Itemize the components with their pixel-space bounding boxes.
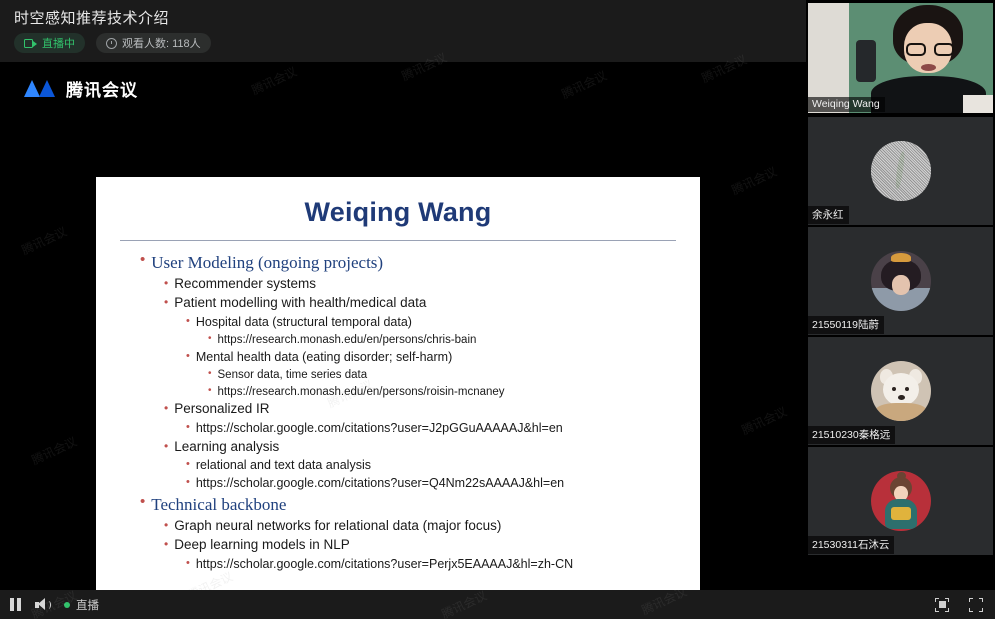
- viewer-count-label: 观看人数: 118人: [122, 35, 201, 51]
- slide-bullet: •Patient modelling with health/medical d…: [164, 295, 686, 312]
- pause-button[interactable]: [10, 598, 21, 611]
- slide-title: Weiqing Wang: [96, 197, 700, 228]
- watermark: 腾讯会议: [19, 223, 70, 259]
- bullet-dot-icon: •: [164, 295, 168, 310]
- bullet-dot-icon: •: [186, 557, 190, 571]
- status-badge-live: 直播中: [14, 33, 85, 53]
- bullet-text: Patient modelling with health/medical da…: [174, 295, 426, 312]
- bullet-dot-icon: •: [164, 401, 168, 416]
- slide-bullet: •Recommender systems: [164, 276, 686, 293]
- brand-bar: 腾讯会议 腾讯会议 腾讯会议 腾讯会议 腾讯会议: [0, 62, 805, 112]
- bullet-dot-icon: •: [140, 252, 145, 269]
- slide-bullet: •https://research.monash.edu/en/persons/…: [208, 333, 686, 347]
- page-title: 时空感知推荐技术介绍: [14, 7, 169, 28]
- avatar: [871, 141, 931, 201]
- slide-bullet: •Graph neural networks for relational da…: [164, 518, 686, 535]
- bullet-text: Sensor data, time series data: [218, 368, 368, 382]
- slide-bullet: •Personalized IR: [164, 401, 686, 418]
- bullet-text: Deep learning models in NLP: [174, 537, 350, 554]
- bullet-text: Technical backbone: [151, 494, 286, 515]
- participant-name: 余永红: [808, 206, 849, 224]
- live-badge-label: 直播中: [42, 35, 75, 51]
- bullet-text: Learning analysis: [174, 439, 279, 456]
- status-badges: 直播中 观看人数: 118人: [14, 33, 211, 53]
- slide-bullet-list: •User Modeling (ongoing projects)•Recomm…: [96, 241, 700, 572]
- slide-bullet: •Technical backbone: [140, 494, 686, 515]
- participant-name: 21550119陆蔚: [808, 316, 884, 334]
- bullet-text: https://research.monash.edu/en/persons/c…: [218, 333, 477, 347]
- participant-tile[interactable]: 21510230秦格远: [808, 337, 993, 445]
- bullet-dot-icon: •: [164, 276, 168, 291]
- slide-bullet: •https://scholar.google.com/citations?us…: [186, 476, 686, 492]
- camera-icon: [24, 39, 37, 48]
- live-indicator: 直播: [64, 597, 99, 613]
- avatar: [871, 361, 931, 421]
- live-dot-icon: [64, 602, 70, 608]
- slide-bullet: •Learning analysis: [164, 439, 686, 456]
- bullet-text: Hospital data (structural temporal data): [196, 315, 412, 331]
- bullet-dot-icon: •: [164, 439, 168, 454]
- slide-bullet: •Hospital data (structural temporal data…: [186, 315, 686, 331]
- avatar: [871, 471, 931, 531]
- watermark: 腾讯会议: [559, 67, 610, 103]
- bullet-text: Graph neural networks for relational dat…: [174, 518, 501, 535]
- bullet-text: https://scholar.google.com/citations?use…: [196, 421, 563, 437]
- slide-bullet: •https://research.monash.edu/en/persons/…: [208, 385, 686, 399]
- presentation-slide[interactable]: Weiqing Wang •User Modeling (ongoing pro…: [96, 177, 700, 619]
- shared-screen-area[interactable]: 腾讯会议 腾讯会议 腾讯会议 腾讯会议 腾讯会议 腾讯会议 腾讯会议 Weiqi…: [0, 112, 805, 619]
- participant-name: 21530311石沐云: [808, 536, 894, 554]
- watermark: 腾讯会议: [29, 433, 80, 469]
- bullet-dot-icon: •: [208, 385, 212, 398]
- bullet-text: https://research.monash.edu/en/persons/r…: [218, 385, 505, 399]
- bullet-dot-icon: •: [186, 458, 190, 472]
- bullet-dot-icon: •: [164, 537, 168, 552]
- player-controls-bar: 直播: [0, 590, 995, 619]
- participant-strip[interactable]: Weiqing Wang 余永红 21550119陆蔚 21510230秦格远: [806, 0, 995, 557]
- participant-tile[interactable]: 21550119陆蔚: [808, 227, 993, 335]
- watermark: 腾讯会议: [249, 63, 300, 99]
- participant-tile-video[interactable]: Weiqing Wang: [808, 3, 993, 113]
- slide-bullet: •https://scholar.google.com/citations?us…: [186, 557, 686, 573]
- slide-bullet: •Sensor data, time series data: [208, 368, 686, 382]
- avatar: [871, 251, 931, 311]
- slide-bullet: •Deep learning models in NLP: [164, 537, 686, 554]
- bullet-dot-icon: •: [186, 476, 190, 490]
- participant-tile[interactable]: 余永红: [808, 117, 993, 225]
- brand-name: 腾讯会议: [66, 76, 138, 101]
- participant-name: 21510230秦格远: [808, 426, 895, 444]
- bullet-text: User Modeling (ongoing projects): [151, 252, 383, 273]
- brand: 腾讯会议: [26, 76, 138, 101]
- bullet-dot-icon: •: [140, 494, 145, 511]
- live-stream-page: 时空感知推荐技术介绍 直播中 观看人数: 118人 腾讯会议 腾讯会议 腾讯会议…: [0, 0, 995, 619]
- bullet-text: Mental health data (eating disorder; sel…: [196, 350, 452, 366]
- participant-name: Weiqing Wang: [808, 97, 885, 112]
- bullet-dot-icon: •: [186, 350, 190, 364]
- eye-icon: [106, 38, 117, 49]
- picture-in-picture-icon[interactable]: [935, 598, 949, 612]
- bullet-dot-icon: •: [208, 333, 212, 346]
- watermark: 腾讯会议: [739, 403, 790, 439]
- slide-bullet: •Mental health data (eating disorder; se…: [186, 350, 686, 366]
- bullet-dot-icon: •: [164, 518, 168, 533]
- bullet-text: relational and text data analysis: [196, 458, 371, 474]
- bullet-dot-icon: •: [186, 315, 190, 329]
- bullet-text: https://scholar.google.com/citations?use…: [196, 557, 573, 573]
- slide-bullet: •https://scholar.google.com/citations?us…: [186, 421, 686, 437]
- status-badge-viewers: 观看人数: 118人: [96, 33, 211, 53]
- slide-bullet: •relational and text data analysis: [186, 458, 686, 474]
- slide-bullet: •User Modeling (ongoing projects): [140, 252, 686, 273]
- participant-tile[interactable]: 21530311石沐云: [808, 447, 993, 555]
- live-label: 直播: [76, 597, 99, 613]
- fullscreen-icon[interactable]: [969, 598, 983, 612]
- bullet-text: Personalized IR: [174, 401, 269, 418]
- bullet-dot-icon: •: [208, 368, 212, 381]
- bullet-dot-icon: •: [186, 421, 190, 435]
- volume-icon[interactable]: [35, 598, 50, 611]
- bullet-text: https://scholar.google.com/citations?use…: [196, 476, 564, 492]
- watermark: 腾讯会议: [729, 163, 780, 199]
- tencent-meeting-logo-icon: [26, 80, 56, 97]
- bullet-text: Recommender systems: [174, 276, 316, 293]
